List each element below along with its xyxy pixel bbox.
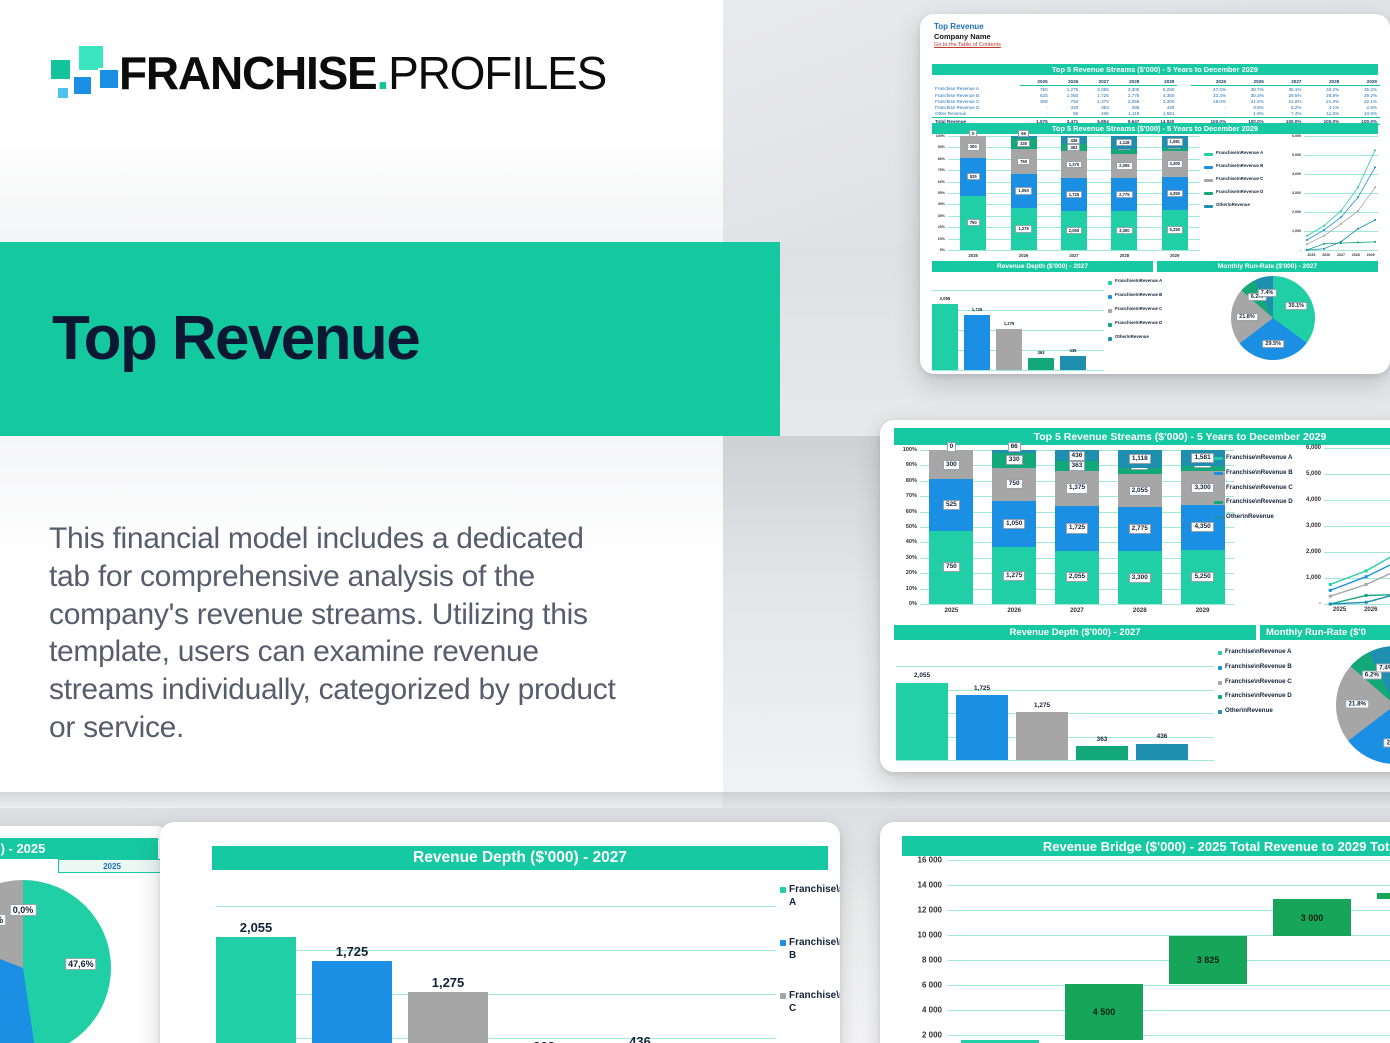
bar-value-label: 66 <box>1018 130 1029 137</box>
grid-line <box>896 760 1214 761</box>
x-tick-label: 2026 <box>1364 607 1377 613</box>
line-series <box>1307 167 1375 240</box>
bar-value-label: 525 <box>967 173 980 180</box>
x-axis-labels: 20252026202720282029 <box>1304 253 1378 257</box>
x-axis-labels: 20252026202720282029 <box>920 607 1234 614</box>
legend-item: Franchise\nRevenue A <box>780 884 840 909</box>
screenshot-card-worksheet[interactable]: Top Revenue Company Name Go to the Table… <box>920 14 1390 374</box>
line-marker <box>1340 223 1342 225</box>
pie-slice-label: 19,0% <box>0 914 6 926</box>
grid-line <box>948 985 1390 986</box>
y-tick-label: 60% <box>894 509 917 515</box>
depth-bar: 1,275 <box>408 992 488 1043</box>
legend-swatch <box>780 940 786 946</box>
pie-year-tab[interactable]: 2025 <box>58 859 166 873</box>
waterfall-bar: 4 500 <box>1065 984 1143 1040</box>
line-marker <box>1357 242 1359 244</box>
bar-segment: 429 <box>1162 148 1188 151</box>
grid-line <box>920 604 1234 605</box>
legend-label: Franchise\nRevenue D <box>1115 320 1162 326</box>
waterfall-bar: 3 825 <box>1169 936 1247 984</box>
table-col-header-pct: 2028 <box>1304 78 1342 86</box>
bar-value-label: 1,581 <box>1191 453 1213 463</box>
line-marker <box>1323 243 1325 245</box>
y-tick-label: 70% <box>894 493 917 499</box>
intro-paragraph: This financial model includes a dedicate… <box>49 520 619 747</box>
legend-label: Franchise\nRevenue C <box>1115 306 1162 312</box>
legend-swatch <box>1214 457 1223 460</box>
line-marker <box>1357 186 1359 188</box>
line-marker <box>1329 603 1332 606</box>
logo-square-green-mid <box>49 58 72 81</box>
y-tick-label: 4 000 <box>890 1006 942 1015</box>
bar-segment: 1,725 <box>1061 178 1087 211</box>
legend-swatch <box>1204 166 1213 169</box>
y-tick-label: 100% <box>894 447 917 453</box>
bar-value-label: 436 <box>1157 733 1168 740</box>
legend-label: Franchise\nRevenue B <box>789 937 840 962</box>
bar-segment: 436 <box>1061 136 1087 144</box>
x-tick-label: 2029 <box>1367 253 1375 257</box>
mini-chart-legend: Franchise\nRevenue A Franchise\nRevenue … <box>1204 150 1263 215</box>
pie-slice-label: 29.5% <box>1384 738 1390 747</box>
legend-label: Franchise\nRevenue C <box>1216 176 1263 182</box>
legend-item: Other\nRevenue <box>1214 513 1293 521</box>
bar-segment: 2,055 <box>1111 154 1137 178</box>
screenshot-card-depth[interactable]: Revenue Depth ($'000) - 2027 2,055 1,725… <box>160 822 840 1043</box>
pie-body: 35.1%29.5%21.8%6.2%7.4% <box>1336 646 1390 764</box>
x-tick-label: 2029 <box>1170 253 1179 258</box>
bar-value-label: 1,275 <box>1003 571 1025 581</box>
legend-item: Franchise\nRevenue D <box>1214 498 1293 506</box>
y-tick-label: 0% <box>894 601 917 607</box>
pie-slice-label: 21.8% <box>1236 313 1258 321</box>
worksheet-company: Company Name <box>934 32 1001 42</box>
legend-label: Franchise\nRevenue D <box>1225 692 1292 700</box>
worksheet-strip-runrate: Monthly Run-Rate ($'000) - 2027 <box>1157 261 1378 272</box>
bar-value-label: 4 500 <box>1093 1007 1116 1017</box>
bar-value-label: 363 <box>1038 350 1045 355</box>
legend-label: Other\nRevenue <box>1216 202 1250 208</box>
line-marker <box>1365 575 1368 578</box>
legend-item: Franchise\nRevenue D <box>1108 320 1162 327</box>
y-tick-label: 10 000 <box>890 931 942 940</box>
stacked-bar: 3,3002,7752,0553991,118 <box>1118 450 1162 604</box>
line-marker <box>1374 166 1376 168</box>
legend-swatch <box>1218 666 1222 670</box>
bar-value-label: 1,725 <box>972 307 982 312</box>
y-tick-label: 60% <box>932 180 945 184</box>
depth-bar: 436 <box>1136 744 1188 760</box>
x-tick-label: 2027 <box>1337 253 1345 257</box>
revenue-streams-table: 2025202620272028202920252026202720282029… <box>932 78 1380 125</box>
bar-value-label: 2,055 <box>1066 572 1088 582</box>
pie-slice-label: 7.4% <box>1376 664 1390 673</box>
bar-segment: 363 <box>1061 144 1087 151</box>
legend-label: Franchise\nRevenue B <box>1216 163 1263 169</box>
legend-swatch <box>1218 710 1222 714</box>
y-tick-label: 100% <box>932 134 945 138</box>
line-marker <box>1340 216 1342 218</box>
logo-square-blue-right <box>98 68 120 90</box>
legend-item: Franchise\nRevenue C <box>780 990 840 1015</box>
legend-swatch <box>1108 337 1112 341</box>
x-tick-label: 2025 <box>1333 607 1346 613</box>
legend-swatch <box>1214 516 1223 519</box>
bar-segment: 2,775 <box>1111 178 1137 211</box>
x-tick-label: 2029 <box>1196 607 1210 614</box>
legend-item: Franchise\nRevenue C <box>1204 176 1263 182</box>
legend-label: Franchise\nRevenue D <box>1226 498 1293 506</box>
legend-item: Franchise\nRevenue B <box>1218 663 1292 671</box>
bar-value-label: 363 <box>533 1039 555 1043</box>
pie-slice-label: 35.1% <box>1285 302 1307 310</box>
depth-bar: 2,055 <box>216 937 296 1043</box>
bar-value-label: 1,275 <box>432 975 465 990</box>
y-tick-label: 16 000 <box>890 856 942 865</box>
line-series <box>1330 491 1390 590</box>
bar-segment: 1,275 <box>992 547 1036 604</box>
legend-label: Franchise\nRevenue D <box>1216 189 1263 195</box>
bar-value-label: 750 <box>1017 158 1030 165</box>
bar-value-label: 1,725 <box>336 944 369 959</box>
depth-bar: 1,275 <box>1016 712 1068 760</box>
depth-card-title: Revenue Depth ($'000) - 2027 <box>212 846 828 870</box>
bar-value-label: 363 <box>1069 461 1086 471</box>
bar-value-label: 2,055 <box>914 672 930 679</box>
mini-depth-bar-chart: 2,055 1,725 1,275 363 436 <box>932 274 1104 374</box>
toc-link[interactable]: Go to the Table of Contents <box>934 42 1001 50</box>
pie-body: 47,6%33,3%19,0%0,0%0,0% <box>0 880 111 1043</box>
bar-value-label: 3,300 <box>1129 573 1151 583</box>
bar-segment: 525 <box>960 158 986 196</box>
logo-word-profiles: PROFILES <box>388 47 606 99</box>
y-tick-label: 90% <box>894 462 917 468</box>
mini-stacked-bar-chart: 100%90%80%70%60%50%40%30%20%10%0%7505253… <box>932 136 1200 260</box>
x-tick-label: 2026 <box>1019 253 1028 258</box>
legend-item: Franchise\nRevenue C <box>1214 484 1293 492</box>
y-tick-label: 20% <box>932 225 945 229</box>
line-marker <box>1374 149 1376 151</box>
table-col-header-pct: 2025 <box>1191 78 1229 86</box>
worksheet-strip-depth: Revenue Depth ($'000) - 2027 <box>932 261 1153 272</box>
bar-segment: 300 <box>929 450 973 479</box>
line-marker <box>1365 594 1368 597</box>
bar-value-label: 3,300 <box>1167 160 1183 167</box>
legend-swatch <box>1218 681 1222 685</box>
y-tick-label: 80% <box>894 478 917 484</box>
logo-dot: . <box>377 47 389 99</box>
line-marker <box>1323 225 1325 227</box>
line-marker <box>1306 249 1308 251</box>
depth-bar: 363 <box>1028 358 1054 370</box>
bar-value-label: 363 <box>1067 144 1080 151</box>
line-marker <box>1329 583 1332 586</box>
page-title: Top Revenue <box>52 308 419 370</box>
legend-item: Other\nRevenue <box>1108 334 1162 341</box>
bar-value-label: 1,275 <box>1004 321 1014 326</box>
y-tick-label: 0% <box>932 248 945 252</box>
x-tick-label: 2028 <box>1352 253 1360 257</box>
stacked-bar: 3,3002,7752,0553991,118 <box>1111 136 1137 250</box>
table-col-header-pct: 2026 <box>1229 78 1267 86</box>
screenshot-card-pie[interactable]: y Run-Rate ($'000) - 2025 2025 47,6%33,3… <box>0 826 170 1043</box>
line-marker <box>1306 235 1308 237</box>
bar-segment: 750 <box>929 531 973 604</box>
depth-bar: 1,725 <box>312 961 392 1043</box>
bar-value-label: 1,118 <box>1129 454 1151 464</box>
bar-segment: 1,375 <box>1061 151 1087 177</box>
table-col-header: 2027 <box>1081 78 1112 86</box>
x-axis-labels: 20252026202720282029 <box>1324 607 1390 613</box>
legend-swatch <box>1108 295 1112 299</box>
bar-segment: 66 <box>992 450 1036 453</box>
bar-segment: 363 <box>1055 461 1099 470</box>
depth-bar: 436 <box>1060 356 1086 370</box>
legend-item: Franchise\nRevenue A <box>1214 454 1293 462</box>
bar-segment: 300 <box>960 136 986 158</box>
mid-strip-title: Top 5 Revenue Streams ($'000) - 5 Years … <box>894 428 1390 445</box>
bar-segment: 3,300 <box>1111 211 1137 250</box>
table-row: Other Revenue-664361,1181,581-1.9%7.4%11… <box>932 111 1380 118</box>
table-col-header-pct: 2029 <box>1342 78 1380 86</box>
mid-strip-runrate: Monthly Run-Rate ($'0 <box>1260 625 1390 640</box>
line-series <box>1307 187 1375 244</box>
line-marker <box>1374 241 1376 243</box>
screenshot-card-bridge[interactable]: Revenue Bridge ($'000) - 2025 Total Reve… <box>880 822 1390 1043</box>
waterfall-bar: 439 <box>1377 893 1390 898</box>
bar-value-label: 2,055 <box>940 296 950 301</box>
y-tick-label: 70% <box>932 168 945 172</box>
legend-swatch <box>1108 281 1112 285</box>
bar-value-label: 1,581 <box>1167 138 1183 145</box>
bar-segment: 5,250 <box>1162 210 1188 250</box>
stacked-bar: 1,2751,05075033066 <box>992 450 1036 604</box>
bar-value-label: 66 <box>1008 442 1021 452</box>
bar-value-label: 1,725 <box>974 685 990 692</box>
bar-value-label: 1,275 <box>1015 225 1031 232</box>
bar-value-label: 0 <box>947 442 957 452</box>
x-tick-label: 2027 <box>1070 607 1084 614</box>
grid-line <box>948 1035 1390 1036</box>
bar-value-label: 2,775 <box>1116 191 1132 198</box>
depth-bar: 2,055 <box>896 683 948 760</box>
pie-slice-label: 47,6% <box>65 958 97 970</box>
bar-value-label: 2,055 <box>1129 486 1151 496</box>
table-col-header: 2026 <box>1051 78 1082 86</box>
mini-line-chart: 6,0005,0004,0003,0002,0001,000-202520262… <box>1284 136 1378 260</box>
logo-square-blue-mid <box>72 75 93 96</box>
bar-value-label: 330 <box>1017 140 1030 147</box>
legend-swatch <box>1108 323 1112 327</box>
legend-label: Franchise\nRevenue B <box>1115 292 1162 298</box>
y-tick-label: 2 000 <box>890 1031 942 1040</box>
pie-slice-label: 7.4% <box>1258 289 1277 297</box>
x-tick-label: 2026 <box>1322 253 1330 257</box>
bar-value-label: 436 <box>1069 451 1086 461</box>
legend-item: Franchise\nRevenue C <box>1108 306 1162 313</box>
bar-value-label: 363 <box>1097 736 1108 743</box>
bar-value-label: 2,055 <box>240 920 273 935</box>
worksheet-strip-chart: Top 5 Revenue Streams ($'000) - 5 Years … <box>932 123 1378 134</box>
bar-segment: 399 <box>1111 149 1137 154</box>
bg-panel-top-left <box>0 0 723 242</box>
bar-value-label: 1,725 <box>1066 523 1088 533</box>
legend-item: Franchise\nRevenue B <box>1108 292 1162 299</box>
stacked-bar: 5,2504,3503,3004291,581 <box>1162 136 1188 250</box>
line-series <box>1330 518 1390 596</box>
bar-value-label: 750 <box>943 562 960 572</box>
mid-strip-depth: Revenue Depth ($'000) - 2027 <box>894 625 1256 640</box>
depth-bar: 363 <box>1076 746 1128 760</box>
legend-item: Franchise\nRevenue B <box>1204 163 1263 169</box>
line-marker <box>1374 186 1376 188</box>
bar-segment: 525 <box>929 479 973 530</box>
bar-segment: 3,300 <box>1162 151 1188 176</box>
bar-segment: 750 <box>1011 149 1037 174</box>
legend-item: Other\nRevenue <box>1204 202 1263 208</box>
worksheet-header: Top Revenue Company Name Go to the Table… <box>934 22 1001 49</box>
worksheet-strip-table: Top 5 Revenue Streams ($'000) - 5 Years … <box>932 64 1378 75</box>
logo-wordmark: FRANCHISE.PROFILES <box>119 50 606 96</box>
bar-segment: 1,050 <box>992 501 1036 548</box>
bar-value-label: 300 <box>943 460 960 470</box>
line-marker <box>1357 228 1359 230</box>
legend-swatch <box>1214 472 1223 475</box>
bar-value-label: 436 <box>1070 348 1077 353</box>
bar-segment: 2,775 <box>1118 507 1162 551</box>
bar-value-label: 4,350 <box>1167 190 1183 197</box>
pie-body: 35.1%29.5%21.8%6.2%7.4% <box>1231 276 1315 360</box>
stacked-bar: 1,2751,05075033066 <box>1011 136 1037 250</box>
legend-label: Franchise\nRevenue B <box>1225 663 1292 671</box>
logo-squares-icon <box>47 42 119 104</box>
bar-segment: 399 <box>1118 468 1162 474</box>
bar-value-label: 2,055 <box>1116 162 1132 169</box>
bar-segment: 1,118 <box>1118 450 1162 468</box>
bridge-card-title: Revenue Bridge ($'000) - 2025 Total Reve… <box>902 836 1390 856</box>
x-axis-labels: 20252026202720282029 <box>948 253 1200 258</box>
legend-swatch <box>780 993 786 999</box>
depth-bar: 1,275 <box>996 329 1022 370</box>
bar-value-label: 1,050 <box>1015 187 1031 194</box>
legend-swatch <box>1218 695 1222 699</box>
bar-value-label: 4,350 <box>1191 522 1213 532</box>
bar-value-label: 300 <box>967 143 980 150</box>
grid-line <box>948 250 1200 251</box>
runrate-pie-chart: 35.1%29.5%21.8%6.2%7.4% <box>1310 646 1390 764</box>
bar-value-label: 3 825 <box>1197 955 1220 965</box>
legend-label: Other\nRevenue <box>1115 334 1149 340</box>
waterfall-bar: 3 000 <box>1273 899 1351 937</box>
mini-pie-chart: 35.1%29.5%21.8%6.2%7.4% <box>1168 276 1378 360</box>
bar-segment: 1,375 <box>1055 471 1099 507</box>
line-marker <box>1323 248 1325 250</box>
bar-value-label: 436 <box>629 1034 651 1043</box>
legend-item: Franchise\nRevenue A <box>1204 150 1263 156</box>
legend-label: Other\nRevenue <box>1225 707 1273 715</box>
bar-segment: 2,055 <box>1061 211 1087 250</box>
line-marker <box>1323 229 1325 231</box>
bar-segment: 330 <box>992 453 1036 468</box>
y-tick-label: 40% <box>894 539 917 545</box>
stacked-chart-legend: Franchise\nRevenue A Franchise\nRevenue … <box>1214 454 1293 528</box>
y-tick-label: 30% <box>932 214 945 218</box>
bar-segment: 750 <box>960 196 986 250</box>
legend-swatch <box>1108 309 1112 313</box>
bar-value-label: 2,055 <box>1066 227 1082 234</box>
grid-line <box>948 885 1390 886</box>
legend-label: Franchise\nRevenue A <box>1226 454 1292 462</box>
line-marker <box>1329 589 1332 592</box>
y-tick-label: 20% <box>894 570 917 576</box>
y-tick-label: 14 000 <box>890 881 942 890</box>
mini-depth-legend: Franchise\nRevenue A Franchise\nRevenue … <box>1108 278 1162 348</box>
table-col-header-pct: 2027 <box>1267 78 1305 86</box>
bar-segment: 330 <box>1011 138 1037 149</box>
bar-value-label: 750 <box>967 219 980 226</box>
legend-swatch <box>1214 487 1223 490</box>
legend-label: Franchise\nRevenue A <box>1216 150 1263 156</box>
bar-value-label: 525 <box>943 500 960 510</box>
line-marker <box>1357 196 1359 198</box>
revenue-depth-bar-chart: 2,055 1,725 1,275 363 436 <box>896 648 1214 766</box>
bar-segment: 2,055 <box>1055 551 1099 604</box>
table-col-header: 2028 <box>1112 78 1143 86</box>
brand-logo: FRANCHISE.PROFILES <box>47 42 606 104</box>
legend-label: Franchise\nRevenue A <box>1225 648 1291 656</box>
legend-item: Franchise\nRevenue D <box>1204 189 1263 195</box>
line-marker <box>1323 235 1325 237</box>
bar-segment: 1,581 <box>1162 136 1188 148</box>
bar-value-label: 1,375 <box>1066 483 1088 493</box>
bar-segment: 2,055 <box>1118 474 1162 507</box>
stacked-bar: 2,0551,7251,375363436 <box>1061 136 1087 250</box>
bar-segment: 1,275 <box>1011 208 1037 250</box>
legend-item: Franchise\nRevenue A <box>1218 648 1292 656</box>
bar-value-label: 1,118 <box>1116 139 1132 146</box>
stacked-bar-chart: 100%90%80%70%60%50%40%30%20%10%0%7505253… <box>894 450 1234 620</box>
x-tick-label: 2028 <box>1120 253 1129 258</box>
bar-value-label: 330 <box>1006 455 1023 465</box>
legend-label: Franchise\nRevenue A <box>789 884 840 909</box>
x-tick-label: 2026 <box>1007 607 1021 614</box>
legend-label: Franchise\nRevenue C <box>1226 484 1293 492</box>
y-tick-label: 50% <box>932 191 945 195</box>
bar-segment: 1,118 <box>1111 136 1137 149</box>
y-tick-label: 6 000 <box>890 981 942 990</box>
legend-item: Franchise\nRevenue B <box>1214 469 1293 477</box>
grid-line <box>948 860 1390 861</box>
legend-item: Franchise\nRevenue A <box>1108 278 1162 285</box>
depth-bar: 1,725 <box>964 315 990 370</box>
x-tick-label: 2025 <box>1307 253 1315 257</box>
line-marker <box>1365 601 1368 604</box>
legend-label: Franchise\nRevenue C <box>1225 678 1292 686</box>
logo-word-franchise: FRANCHISE <box>119 47 377 99</box>
screenshot-card-streams[interactable]: Top 5 Revenue Streams ($'000) - 5 Years … <box>880 420 1390 772</box>
legend-swatch <box>1218 651 1222 655</box>
y-tick-label: 10% <box>894 586 917 592</box>
revenue-bridge-waterfall: 16 00014 00012 00010 0008 0006 0004 0002… <box>890 860 1390 1043</box>
pie-slice-label: 29.5% <box>1262 340 1284 348</box>
y-tick-label: 10% <box>932 237 945 241</box>
bar-value-label: 3 000 <box>1301 913 1324 923</box>
legend-item: Franchise\nRevenue D <box>1218 692 1292 700</box>
y-tick-label: 90% <box>932 145 945 149</box>
monthly-runrate-line-chart: 6,0005,0004,0003,0002,0001,000-202520262… <box>1290 448 1390 620</box>
bar-value-label: 1,725 <box>1066 191 1082 198</box>
